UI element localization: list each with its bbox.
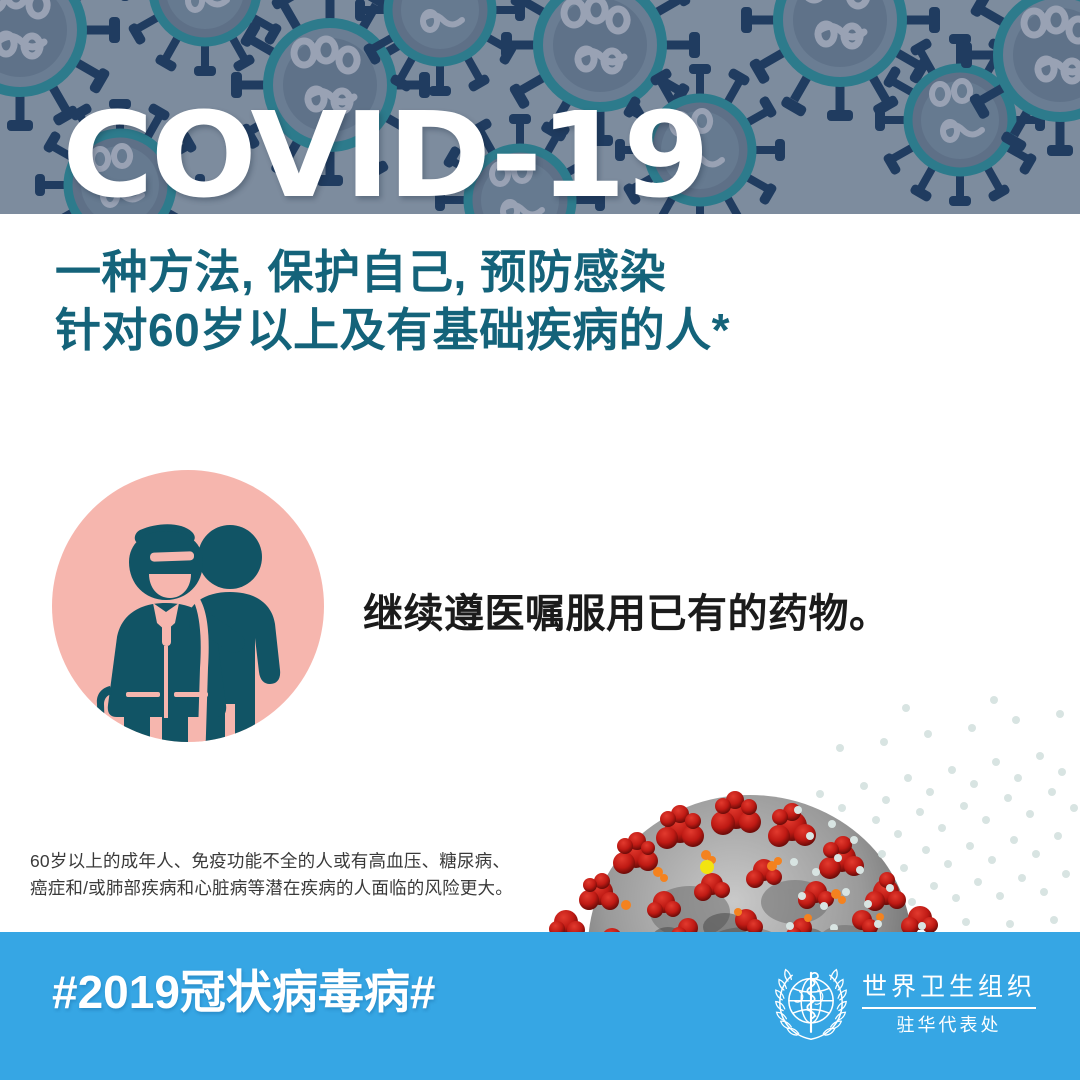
- page-title: COVID-19: [62, 96, 707, 214]
- footnote-line-1: 60岁以上的成年人、免疫功能不全的人或有高血压、糖尿病、: [30, 848, 590, 875]
- bottom-bar: #2019冠状病毒病#: [0, 932, 1080, 1080]
- footnote-line-2: 癌症和/或肺部疾病和心脏病等潜在疾病的人面临的风险更大。: [30, 875, 590, 902]
- footnote: 60岁以上的成年人、免疫功能不全的人或有高血压、糖尿病、 癌症和/或肺部疾病和心…: [30, 848, 590, 902]
- halftone-dot-pattern: [780, 690, 1080, 930]
- who-organization-name: 世界卫生组织: [862, 971, 1036, 1003]
- illustration-circle-background: [52, 470, 324, 742]
- who-logo: 世界卫生组织 驻华代表处: [770, 960, 1036, 1048]
- covid19-who-poster: COVID-19 一种方法, 保护自己, 预防感染 针对60岁以上及有基础疾病的…: [0, 0, 1080, 1080]
- illustration: [52, 470, 324, 742]
- poster-header: COVID-19: [0, 0, 1080, 214]
- hashtag-label: #2019冠状病毒病#: [52, 962, 436, 1022]
- headline-line-2: 针对60岁以上及有基础疾病的人*: [55, 301, 1015, 359]
- who-emblem-icon: [770, 963, 852, 1045]
- headline-line-1: 一种方法, 保护自己, 预防感染: [55, 243, 1015, 301]
- headline: 一种方法, 保护自己, 预防感染 针对60岁以上及有基础疾病的人*: [55, 243, 1015, 359]
- who-office-name: 驻华代表处: [897, 1013, 1002, 1037]
- main-message: 继续遵医嘱服用已有的药物。: [363, 588, 1003, 640]
- elderly-with-caregiver-icon: [52, 470, 324, 742]
- who-divider: [862, 1007, 1036, 1009]
- who-text-block: 世界卫生组织 驻华代表处: [862, 971, 1036, 1037]
